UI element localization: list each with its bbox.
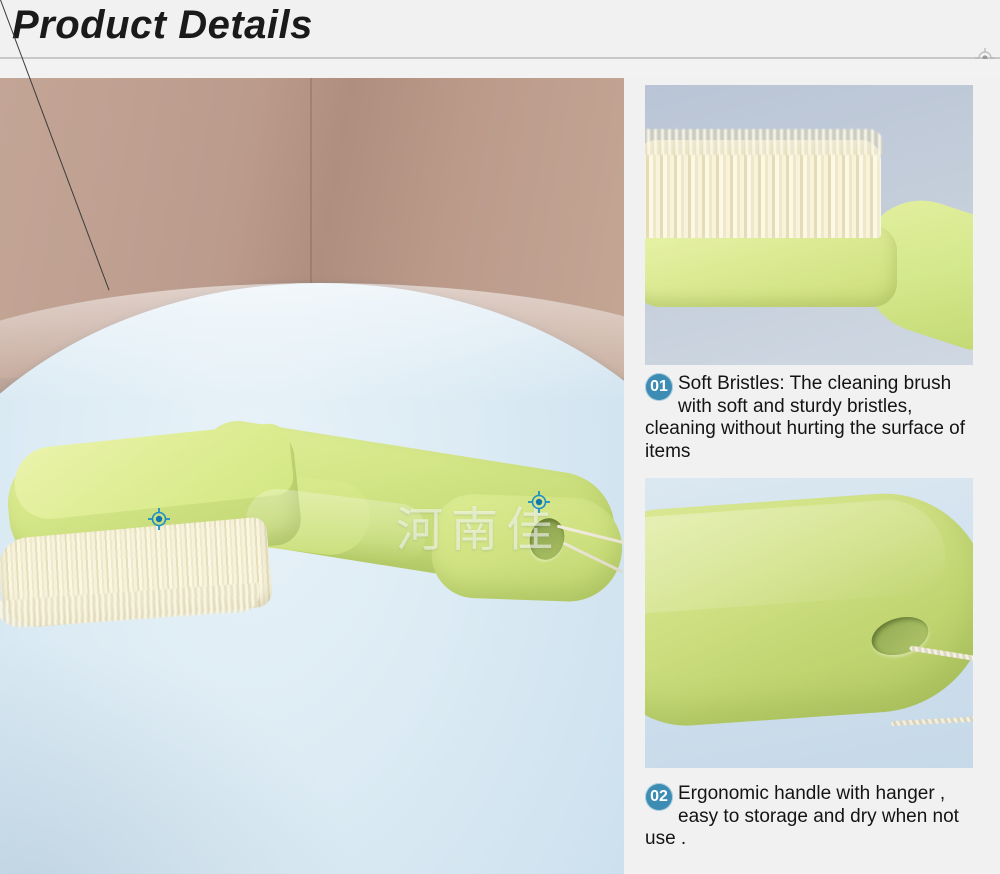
detail-badge-1: 01 (645, 373, 673, 401)
brush-product (0, 378, 624, 678)
product-hero-photo[interactable]: 河南佳 (0, 78, 624, 874)
header-spacer-band (0, 59, 1000, 78)
brush-handle-end (430, 493, 624, 604)
closeup-hanger-cord-tail (891, 715, 973, 726)
detail-caption-1: 01 Soft Bristles: The cleaning brush wit… (645, 373, 977, 463)
callout-marker-bristles[interactable] (148, 508, 170, 530)
page-header: Product Details (0, 0, 1000, 58)
page-title: Product Details (12, 3, 313, 48)
bristle-closeup-photo[interactable] (645, 85, 973, 365)
detail-caption-2: 02 Ergonomic handle with hanger , easy t… (645, 783, 977, 851)
detail-text-1: Soft Bristles: The cleaning brush with s… (645, 373, 965, 462)
handle-closeup-photo[interactable] (645, 478, 973, 768)
photo-wall-seam (310, 78, 312, 308)
detail-text-2: Ergonomic handle with hanger , easy to s… (645, 783, 959, 849)
closeup-bristle-tips (645, 129, 883, 155)
product-details-page: Product Details (0, 0, 1000, 874)
callout-marker-handle[interactable] (528, 491, 550, 513)
detail-badge-2: 02 (645, 783, 673, 811)
